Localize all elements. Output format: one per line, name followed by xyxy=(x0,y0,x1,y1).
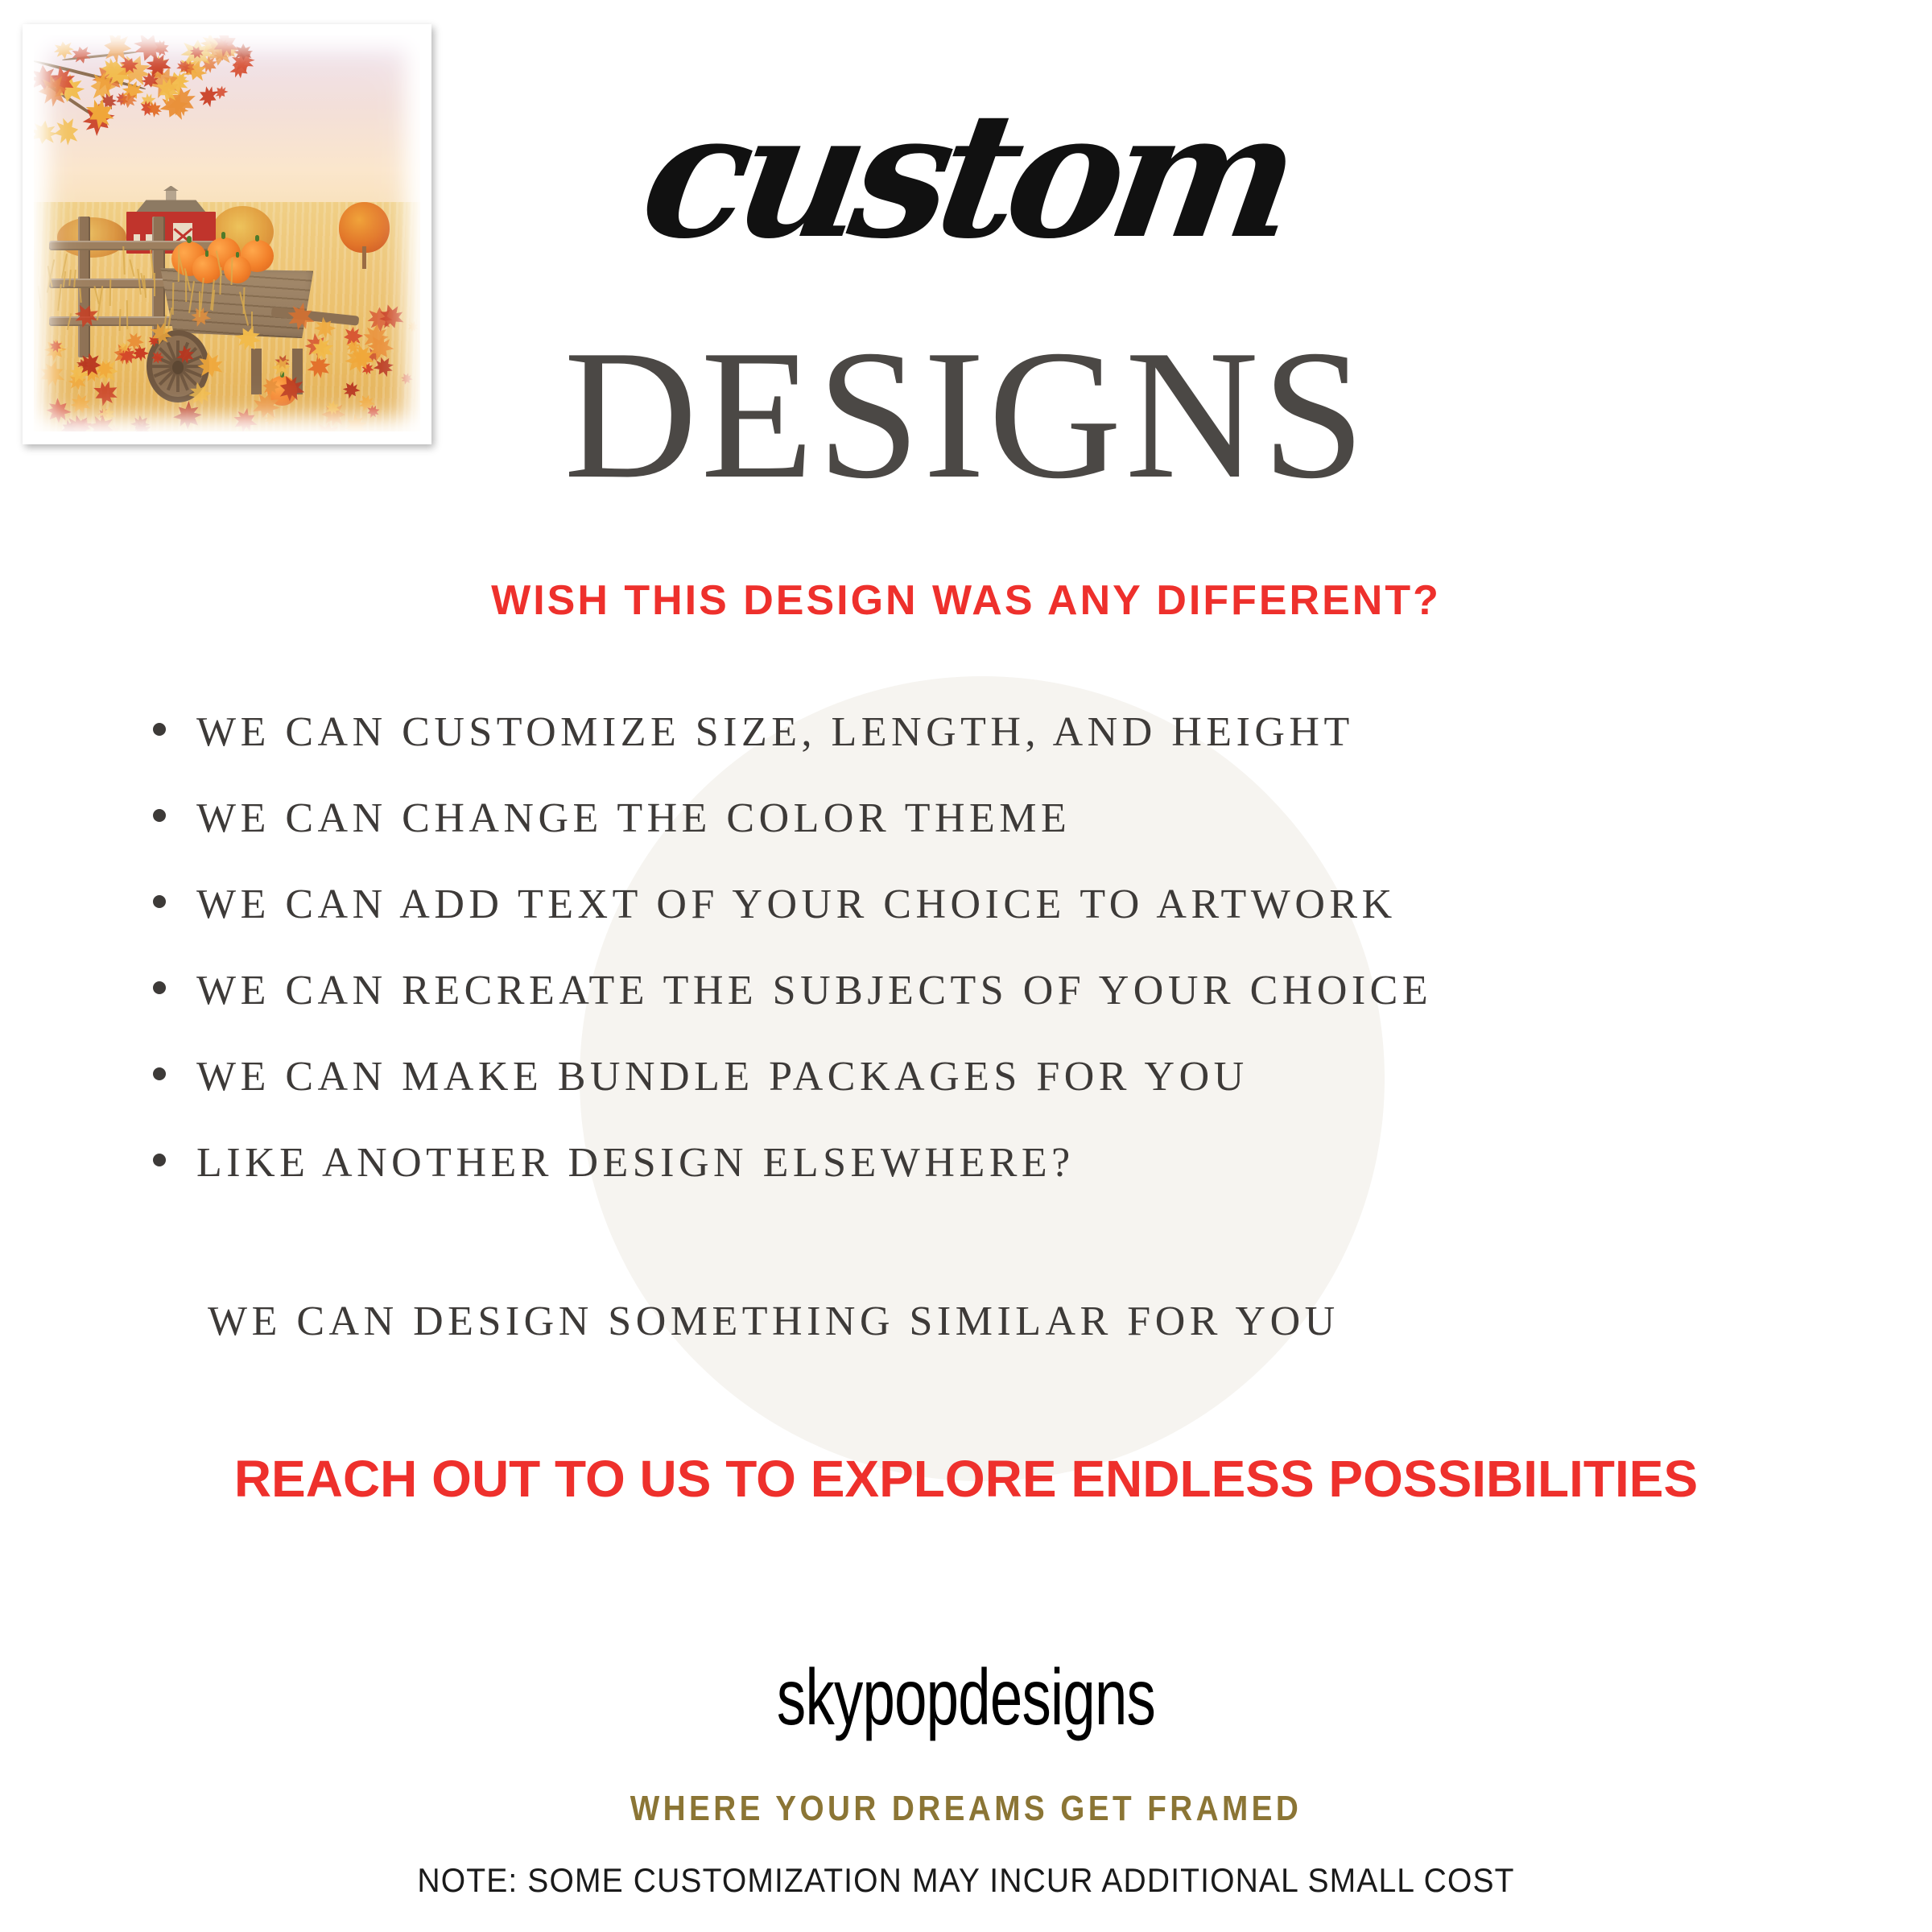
list-item-label: WE CAN ADD TEXT OF YOUR CHOICE TO ARTWOR… xyxy=(196,881,1397,928)
call-to-action: REACH OUT TO US TO EXPLORE ENDLESS POSSI… xyxy=(0,1449,1932,1509)
bullet-dot-icon xyxy=(153,1067,166,1080)
maple-branch xyxy=(34,35,250,162)
list-item-label: WE CAN CHANGE THE COLOR THEME xyxy=(196,795,1071,842)
list-item-label: WE CAN RECREATE THE SUBJECTS OF YOUR CHO… xyxy=(196,967,1432,1014)
brand-tagline: WHERE YOUR DREAMS GET FRAMED xyxy=(116,1789,1816,1829)
list-item: WE CAN RECREATE THE SUBJECTS OF YOUR CHO… xyxy=(153,967,1843,1014)
feature-list: WE CAN CUSTOMIZE SIZE, LENGTH, AND HEIGH… xyxy=(153,708,1843,1225)
list-item: LIKE ANOTHER DESIGN ELSEWHERE? xyxy=(153,1139,1843,1187)
list-item-continuation: WE CAN DESIGN SOMETHING SIMILAR FOR YOU xyxy=(208,1298,1340,1345)
bullet-dot-icon xyxy=(153,981,166,994)
bullet-dot-icon xyxy=(153,895,166,908)
list-item: WE CAN ADD TEXT OF YOUR CHOICE TO ARTWOR… xyxy=(153,881,1843,928)
bullet-dot-icon xyxy=(153,809,166,822)
brand-name: skypopdesigns xyxy=(251,1652,1681,1743)
bullet-dot-icon xyxy=(153,723,166,736)
autumn-farm-artwork xyxy=(34,35,420,431)
list-item-label: WE CAN MAKE BUNDLE PACKAGES FOR YOU xyxy=(196,1053,1249,1100)
list-item-label: LIKE ANOTHER DESIGN ELSEWHERE? xyxy=(196,1139,1075,1187)
bullet-dot-icon xyxy=(153,1154,166,1166)
list-item-label: WE CAN CUSTOMIZE SIZE, LENGTH, AND HEIGH… xyxy=(196,708,1354,756)
product-thumbnail[interactable] xyxy=(23,24,431,444)
list-item: WE CAN CHANGE THE COLOR THEME xyxy=(153,795,1843,842)
footer-note: NOTE: SOME CUSTOMIZATION MAY INCUR ADDIT… xyxy=(68,1861,1864,1900)
list-item: WE CAN MAKE BUNDLE PACKAGES FOR YOU xyxy=(153,1053,1843,1100)
subheadline: WISH THIS DESIGN WAS ANY DIFFERENT? xyxy=(0,576,1932,625)
list-item: WE CAN CUSTOMIZE SIZE, LENGTH, AND HEIGH… xyxy=(153,708,1843,756)
